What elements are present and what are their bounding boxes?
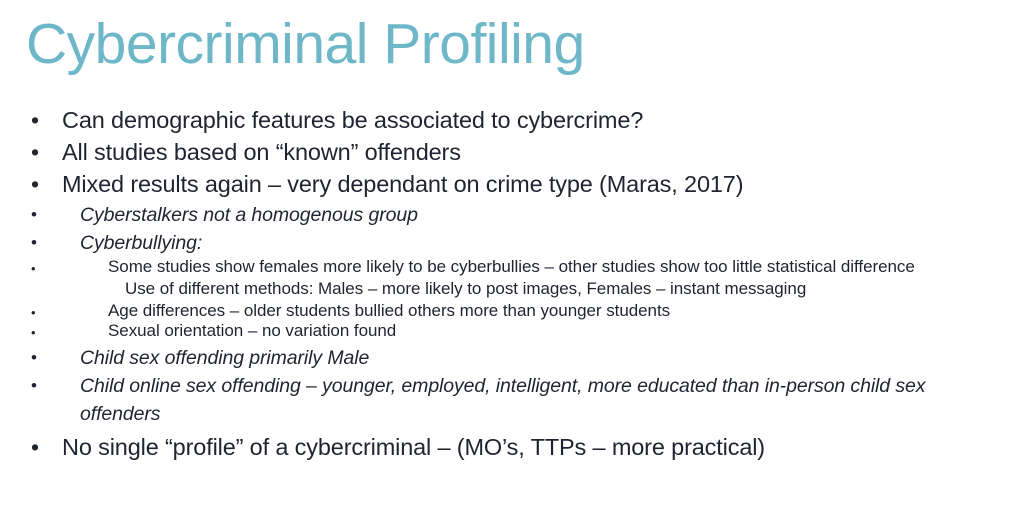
list-item: •Mixed results again – very dependant on… xyxy=(0,168,1024,200)
list-item: •Sexual orientation – no variation found xyxy=(0,321,1024,341)
list-item: •Can demographic features be associated … xyxy=(0,104,1024,136)
list-item: •Child sex offending primarily Male xyxy=(0,344,1024,372)
list-item-text: All studies based on “known” offenders xyxy=(62,136,1024,168)
list-item: •Some studies show females more likely t… xyxy=(0,257,1024,277)
list-item-text: Age differences – older students bullied… xyxy=(108,301,1024,321)
bullet-point-icon: • xyxy=(31,344,37,372)
list-item-text: Mixed results again – very dependant on … xyxy=(62,168,1024,200)
list-item: •Cyberbullying: xyxy=(0,229,1024,257)
bullet-point-icon: • xyxy=(31,372,37,400)
bullet-point-icon: • xyxy=(31,321,36,345)
list-item-text: Can demographic features be associated t… xyxy=(62,104,1024,136)
list-item-text: Use of different methods: Males – more l… xyxy=(125,277,1024,301)
list-item-text: Child online sex offending – younger, em… xyxy=(80,372,1024,428)
list-item: •No single “profile” of a cybercriminal … xyxy=(0,431,1024,463)
list-item-text: No single “profile” of a cybercriminal –… xyxy=(62,431,1024,463)
list-item-text: Cyberstalkers not a homogenous group xyxy=(80,201,1024,229)
page-title: Cybercriminal Profiling xyxy=(26,8,585,80)
list-item-text: Sexual orientation – no variation found xyxy=(108,321,1024,341)
list-item: •Cyberstalkers not a homogenous group xyxy=(0,201,1024,229)
list-item: •All studies based on “known” offenders xyxy=(0,136,1024,168)
bullet-point-icon: • xyxy=(31,104,39,136)
bullet-point-icon: • xyxy=(31,168,39,200)
list-item-text: Cyberbullying: xyxy=(80,229,1024,257)
list-item: Use of different methods: Males – more l… xyxy=(0,277,1024,301)
bullet-list: •Can demographic features be associated … xyxy=(0,104,1024,463)
list-item-text: Some studies show females more likely to… xyxy=(108,257,1024,277)
bullet-point-icon: • xyxy=(31,229,37,257)
bullet-point-icon: • xyxy=(31,136,39,168)
bullet-point-icon: • xyxy=(31,201,37,229)
presentation-slide: Cybercriminal Profiling •Can demographic… xyxy=(0,0,1024,530)
list-item-text: Child sex offending primarily Male xyxy=(80,344,1024,372)
bullet-point-icon: • xyxy=(31,431,39,463)
list-item: •Child online sex offending – younger, e… xyxy=(0,372,1024,428)
list-item: •Age differences – older students bullie… xyxy=(0,301,1024,321)
